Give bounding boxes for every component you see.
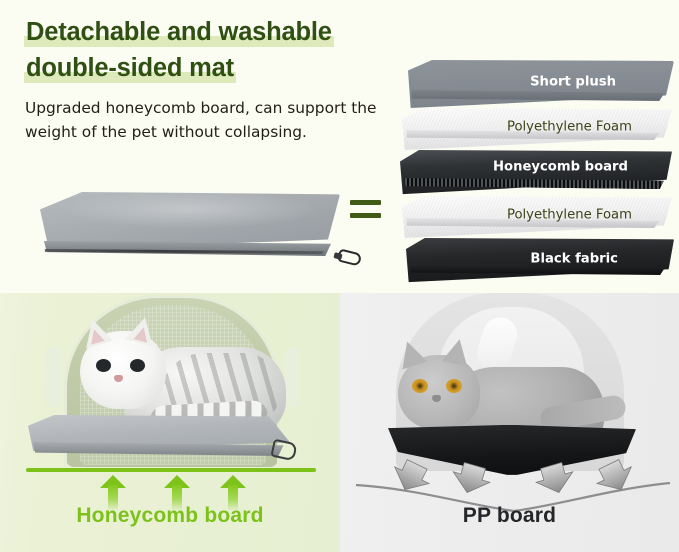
layer-stack-diagram: Short plush Polyethylene Foam Honeycomb …: [398, 60, 674, 288]
assembled-mat-illustration: [14, 186, 354, 286]
headline-line-2: double-sided mat: [24, 50, 236, 86]
cat-ear-right: [442, 337, 473, 367]
layer-label: Short plush: [530, 75, 616, 90]
cat-eye-left: [96, 359, 111, 372]
layer-polyethylene-foam-top: Polyethylene Foam: [402, 108, 672, 150]
layer-polyethylene-foam-bottom: Polyethylene Foam: [402, 196, 672, 238]
down-arrow-icon: [449, 460, 493, 497]
headline-line-1: Detachable and washable: [24, 14, 334, 50]
down-arrow-icon: [533, 460, 577, 497]
support-line: [26, 468, 316, 472]
layer-label: Polyethylene Foam: [507, 208, 632, 223]
zipper-tab: [333, 252, 342, 260]
mat-top-surface: [40, 192, 340, 250]
zipper-icon: [334, 248, 360, 266]
cat-eye-right: [130, 359, 145, 372]
carrier-handle-left: [46, 347, 61, 407]
layer-label: Honeycomb board: [493, 160, 628, 175]
caption-pp-board: PP board: [340, 504, 679, 528]
caption-honeycomb-board: Honeycomb board: [0, 504, 340, 528]
honeycomb-mat-flat: [28, 415, 290, 463]
headline-line-1-text: Detachable and washable: [26, 18, 332, 46]
layer-label: Polyethylene Foam: [507, 120, 632, 135]
layer-short-plush: Short plush: [408, 60, 674, 108]
top-section: Detachable and washable double-sided mat…: [0, 0, 679, 293]
equals-bar-top: [350, 200, 381, 205]
mat-body: [40, 192, 340, 260]
subtitle-text: Upgraded honeycomb board, can support th…: [25, 96, 395, 144]
headline-block: Detachable and washable double-sided mat: [24, 14, 404, 86]
cat-eye-left: [412, 379, 428, 393]
layer-label: Black fabric: [530, 252, 618, 267]
layer-black-fabric: Black fabric: [406, 238, 674, 284]
headline-line-2-text: double-sided mat: [26, 54, 234, 82]
equals-bar-bottom: [350, 213, 381, 218]
cat-eye-right: [446, 379, 462, 393]
layer-honeycomb-board: Honeycomb board: [400, 150, 672, 198]
equals-icon: [350, 196, 386, 226]
mat-side-edge: [30, 442, 286, 456]
infographic-page: Detachable and washable double-sided mat…: [0, 0, 679, 552]
